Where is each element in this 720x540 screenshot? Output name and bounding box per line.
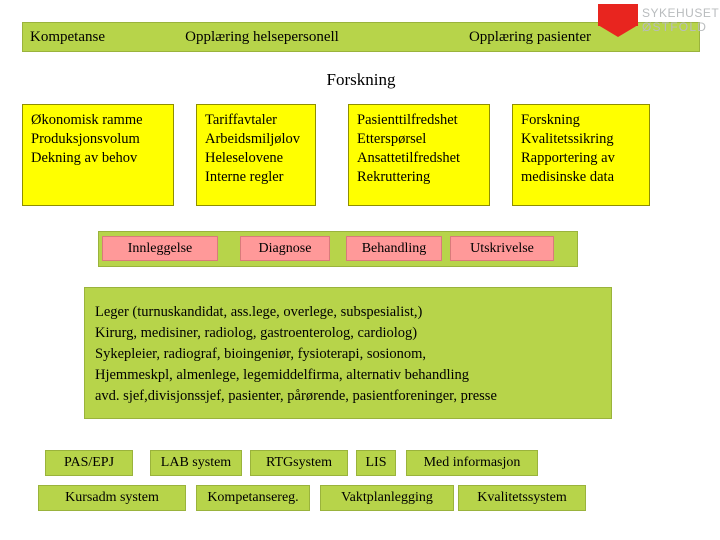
system-lis: LIS [356,450,396,476]
system-vaktplanlegging: Vaktplanlegging [320,485,454,511]
system-lis-label: LIS [366,455,387,471]
forskning-heading: Forskning [22,70,700,90]
process-step-utskrivelse: Utskrivelse [450,236,554,261]
top-cell-kompetanse-label: Kompetanse [30,29,105,46]
avtaler-line-1: Tariffavtaler [205,111,307,130]
system-med-informasjon-label: Med informasjon [424,455,521,471]
top-cell-helsepersonell-label: Opplæring helsepersonell [185,29,339,46]
avtaler-line-4: Interne regler [205,168,307,187]
hospital-logo: SYKEHUSET ØSTFOLD [588,4,706,50]
logo-line-1: SYKEHUSET [642,6,719,20]
forskning-box-line-2: Kvalitetssikring [521,130,641,149]
forskning-box-line-4: medisinske data [521,168,641,187]
roles-block: Leger (turnuskandidat, ass.lege, overleg… [84,287,612,419]
okonomi-line-2: Produksjonsvolum [31,130,165,149]
system-lab-label: LAB system [161,455,231,471]
tilfredshet-line-2: Etterspørsel [357,130,481,149]
process-step-innleggelse-label: Innleggelse [128,241,193,257]
forskning-box: Forskning Kvalitetssikring Rapportering … [512,104,650,206]
tilfredshet-line-1: Pasienttilfredshet [357,111,481,130]
okonomi-line-3: Dekning av behov [31,149,165,168]
roles-line-3: Sykepleier, radiograf, bioingeniør, fysi… [95,344,611,365]
roles-line-4: Hjemmeskpl, almenlege, legemiddelfirma, … [95,365,611,386]
system-kursadm-label: Kursadm system [65,490,159,506]
system-med-informasjon: Med informasjon [406,450,538,476]
top-cell-pasienter-label: Opplæring pasienter [469,29,591,46]
roles-line-1: Leger (turnuskandidat, ass.lege, overleg… [95,302,611,323]
system-kompetansereg: Kompetansereg. [196,485,310,511]
system-rtg-label: RTGsystem [266,455,332,471]
process-step-behandling-label: Behandling [362,241,427,257]
system-pas-epj: PAS/EPJ [45,450,133,476]
logo-wordmark: SYKEHUSET ØSTFOLD [642,6,719,34]
top-cell-kompetanse: Kompetanse [22,22,172,52]
logo-line-2: ØSTFOLD [642,20,719,34]
avtaler-line-2: Arbeidsmiljølov [205,130,307,149]
tilfredshet-line-3: Ansattetilfredshet [357,149,481,168]
red-chevron-logo-icon [598,4,638,26]
process-step-diagnose-label: Diagnose [259,241,312,257]
roles-line-2: Kirurg, medisiner, radiolog, gastroenter… [95,323,611,344]
diagram-canvas: Kompetanse Opplæring helsepersonell Oppl… [0,0,720,540]
okonomi-line-1: Økonomisk ramme [31,111,165,130]
process-step-behandling: Behandling [346,236,442,261]
forskning-box-line-1: Forskning [521,111,641,130]
system-kursadm: Kursadm system [38,485,186,511]
system-kvalitetssystem: Kvalitetssystem [458,485,586,511]
avtaler-box: Tariffavtaler Arbeidsmiljølov Heleselove… [196,104,316,206]
system-pas-epj-label: PAS/EPJ [64,455,114,471]
process-step-innleggelse: Innleggelse [102,236,218,261]
system-lab: LAB system [150,450,242,476]
okonomi-box: Økonomisk ramme Produksjonsvolum Dekning… [22,104,174,206]
tilfredshet-box: Pasienttilfredshet Etterspørsel Ansattet… [348,104,490,206]
process-step-diagnose: Diagnose [240,236,330,261]
forskning-box-line-3: Rapportering av [521,149,641,168]
system-kompetansereg-label: Kompetansereg. [207,490,298,506]
process-step-utskrivelse-label: Utskrivelse [470,241,534,257]
system-kvalitetssystem-label: Kvalitetssystem [477,490,566,506]
system-vaktplanlegging-label: Vaktplanlegging [341,490,433,506]
top-cell-opplaering-helsepersonell: Opplæring helsepersonell [172,22,352,52]
roles-line-5: avd. sjef,divisjonssjef, pasienter, pårø… [95,386,611,407]
tilfredshet-line-4: Rekruttering [357,168,481,187]
avtaler-line-3: Heleselovene [205,149,307,168]
system-rtg: RTGsystem [250,450,348,476]
